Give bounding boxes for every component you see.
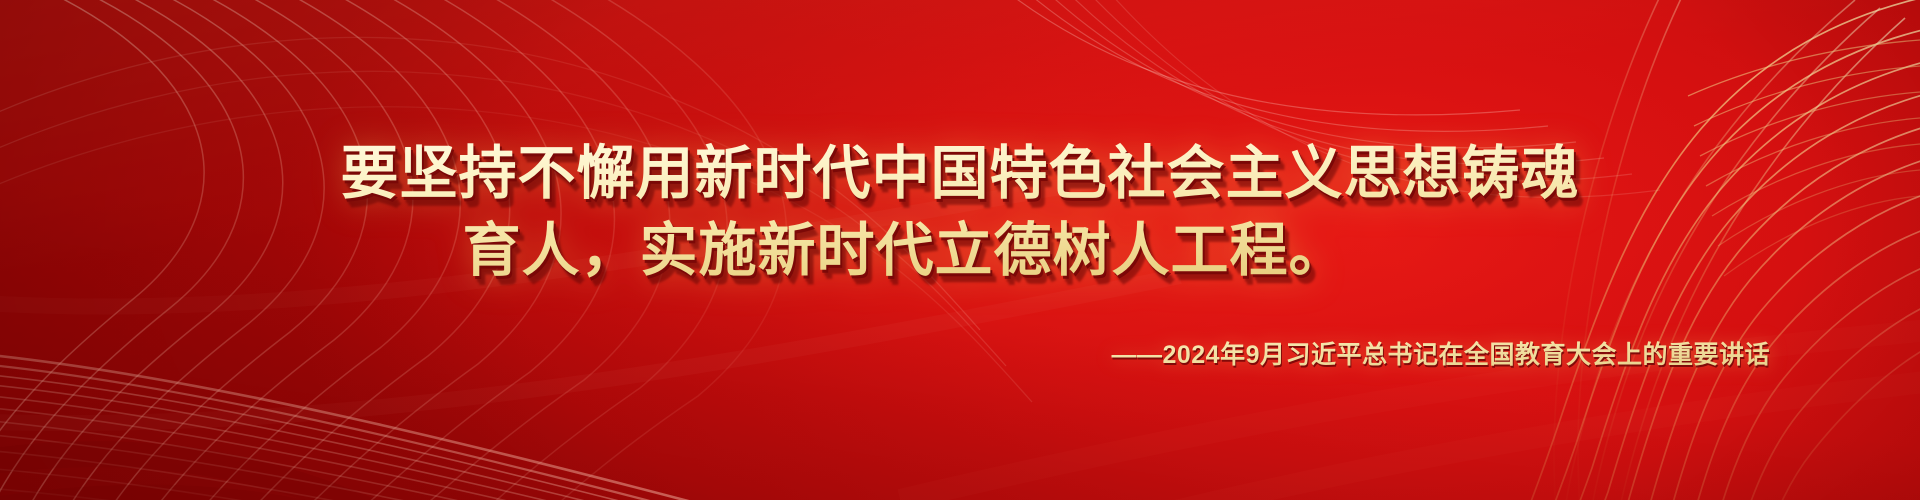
- slogan-quote: 要坚持不懈用新时代中国特色社会主义思想铸魂 育人，实施新时代立德树人工程。: [0, 135, 1920, 289]
- banner-content: 要坚持不懈用新时代中国特色社会主义思想铸魂 育人，实施新时代立德树人工程。 ——…: [0, 0, 1920, 500]
- banner-canvas: 要坚持不懈用新时代中国特色社会主义思想铸魂 育人，实施新时代立德树人工程。 ——…: [0, 0, 1920, 500]
- quote-attribution: ——2024年9月习近平总书记在全国教育大会上的重要讲话: [0, 335, 1920, 371]
- slogan-line-1: 要坚持不懈用新时代中国特色社会主义思想铸魂: [120, 135, 1800, 212]
- slogan-line-2: 育人，实施新时代立德树人工程。: [120, 212, 1800, 289]
